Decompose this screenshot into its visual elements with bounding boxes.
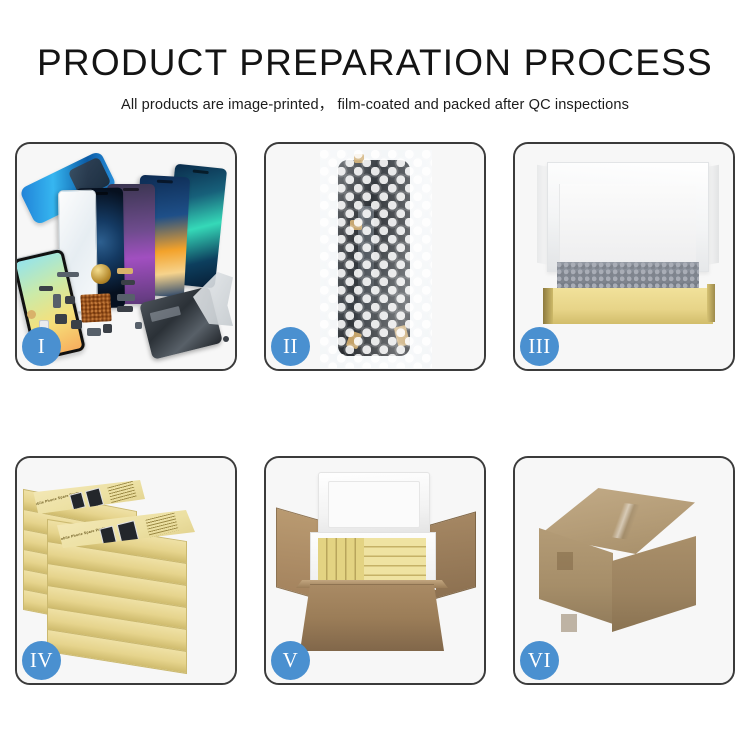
foam-cooler-lid-image (318, 472, 430, 536)
process-step-panel-5[interactable]: V (264, 456, 486, 685)
process-step-panel-2[interactable]: II (264, 142, 486, 371)
kraft-box-side-image (707, 284, 715, 322)
step-badge-6: VI (520, 641, 559, 680)
page-subtitle: All products are image-printed， film-coa… (0, 81, 750, 114)
grey-foam-insert-image (557, 262, 699, 290)
small-part-image (135, 322, 142, 329)
step-badge-4: IV (22, 641, 61, 680)
small-part-image (103, 324, 112, 333)
carton-tape-patch-image (557, 552, 573, 570)
packed-retail-boxes-image (318, 538, 426, 582)
page-header: PRODUCT PREPARATION PROCESS All products… (0, 0, 750, 114)
notch-icon (157, 180, 173, 184)
copper-chip-grid-image (80, 293, 111, 323)
gold-component-image (91, 264, 111, 284)
carton-tape-patch-image (561, 614, 577, 632)
bubble-wrap-bag-image (320, 150, 432, 368)
small-part-image (223, 336, 229, 342)
step-badge-3: III (520, 327, 559, 366)
step-badge-1: I (22, 327, 61, 366)
kraft-box-base-image (543, 288, 713, 324)
process-step-panel-4[interactable]: Mobile Phone Spare Parts Mobile Phone Sp… (15, 456, 237, 685)
process-step-panel-3[interactable]: III (513, 142, 735, 371)
box-screen-graphic (69, 492, 86, 511)
process-step-panel-1[interactable]: I (15, 142, 237, 371)
small-part-image (65, 296, 75, 304)
notch-icon (193, 169, 209, 174)
carton-front-panel-image (300, 584, 444, 651)
process-steps-grid: I II III (15, 142, 736, 685)
step-badge-2: II (271, 327, 310, 366)
small-part-image (117, 294, 135, 301)
process-step-panel-6[interactable]: VI (513, 456, 735, 685)
small-part-image (121, 280, 135, 285)
small-part-image (117, 268, 133, 274)
small-part-image (87, 328, 101, 336)
box-spec-lines (145, 513, 178, 538)
small-part-image (71, 320, 82, 329)
small-part-image (55, 314, 67, 324)
box-spec-lines (107, 481, 136, 503)
small-part-image (57, 272, 79, 277)
notch-icon (123, 188, 139, 191)
small-part-image (27, 310, 36, 319)
page-title: PRODUCT PREPARATION PROCESS (0, 0, 750, 81)
small-part-image (117, 306, 133, 312)
small-part-image (39, 286, 53, 291)
white-lid-inner-panel-image (559, 184, 696, 270)
plastic-sheen-overlay (320, 150, 432, 368)
step-badge-5: V (271, 641, 310, 680)
small-part-image (53, 294, 61, 308)
